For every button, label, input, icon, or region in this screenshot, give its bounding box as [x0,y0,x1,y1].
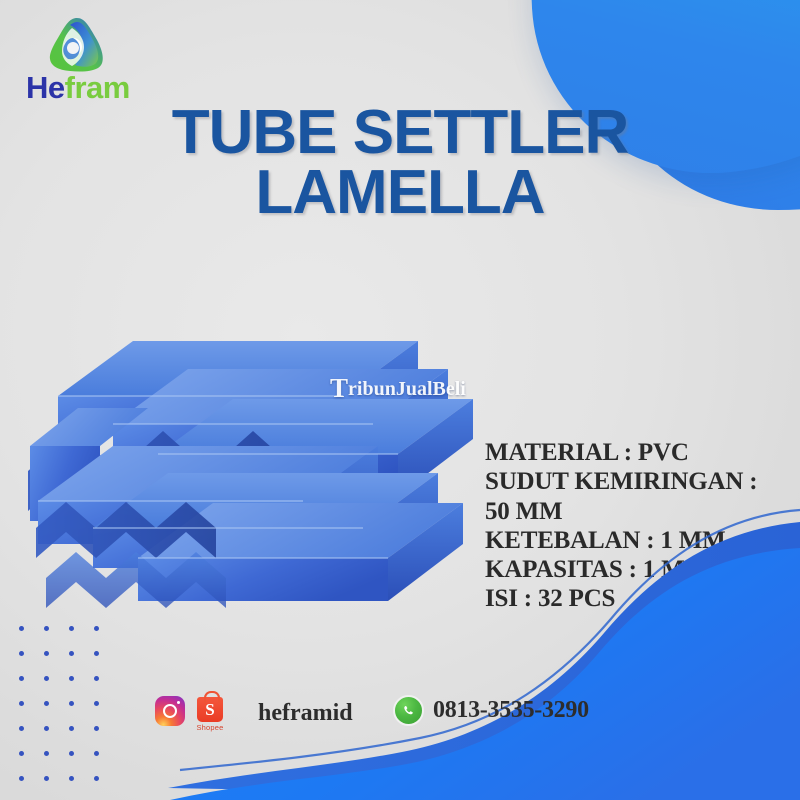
page-title: TUBE SETTLER LAMELLA [100,103,700,223]
dot-grid-decoration [14,616,114,791]
brand-name-part1: He [26,70,65,105]
brand-logo: Hefram [24,16,154,108]
title-line-1: TUBE SETTLER [172,98,628,167]
phone-number: 0813-3535-3290 [433,697,589,724]
spec-isi: ISI : 32 PCS [485,584,785,613]
product-image [18,296,488,626]
shopee-bag-handle [204,691,220,703]
shopee-bag: S [197,697,223,722]
whatsapp-icon[interactable] [393,695,424,726]
watermark-initial: T [330,373,348,403]
shopee-icon[interactable]: S Shopee [193,696,227,732]
shopee-label: Shopee [193,723,227,732]
spec-ketebalan: KETEBALAN : 1 MM [485,526,785,555]
instagram-contact[interactable]: S Shopee [155,696,227,732]
instagram-dot [177,701,180,704]
tribunjualbeli-watermark: TribunJualBeli [330,378,466,401]
instagram-icon[interactable] [155,696,185,726]
brand-wordmark: Hefram [26,72,130,103]
instagram-lens [163,704,177,718]
specifications-list: MATERIAL : PVC SUDUT KEMIRINGAN : 50 MM … [485,438,785,614]
spec-kapasitas: KAPASITAS : 1 M [485,555,785,584]
spec-sudut-kemiringan: SUDUT KEMIRINGAN : 50 MM [485,467,785,526]
brand-name-part2: fram [65,70,130,105]
spec-material: MATERIAL : PVC [485,438,785,467]
title-line-2: LAMELLA [100,163,700,223]
watermark-text: ribunJualBeli [348,378,466,400]
poster-canvas: Hefram TUBE SETTLER LAMELLA [0,0,800,800]
social-handle: heframid [258,700,353,727]
heframe-triangle-swirl-logo [46,16,108,74]
whatsapp-contact[interactable]: 0813-3535-3290 [393,695,589,726]
footer-contacts: S Shopee heframid 0813-3535-3290 [150,694,670,742]
